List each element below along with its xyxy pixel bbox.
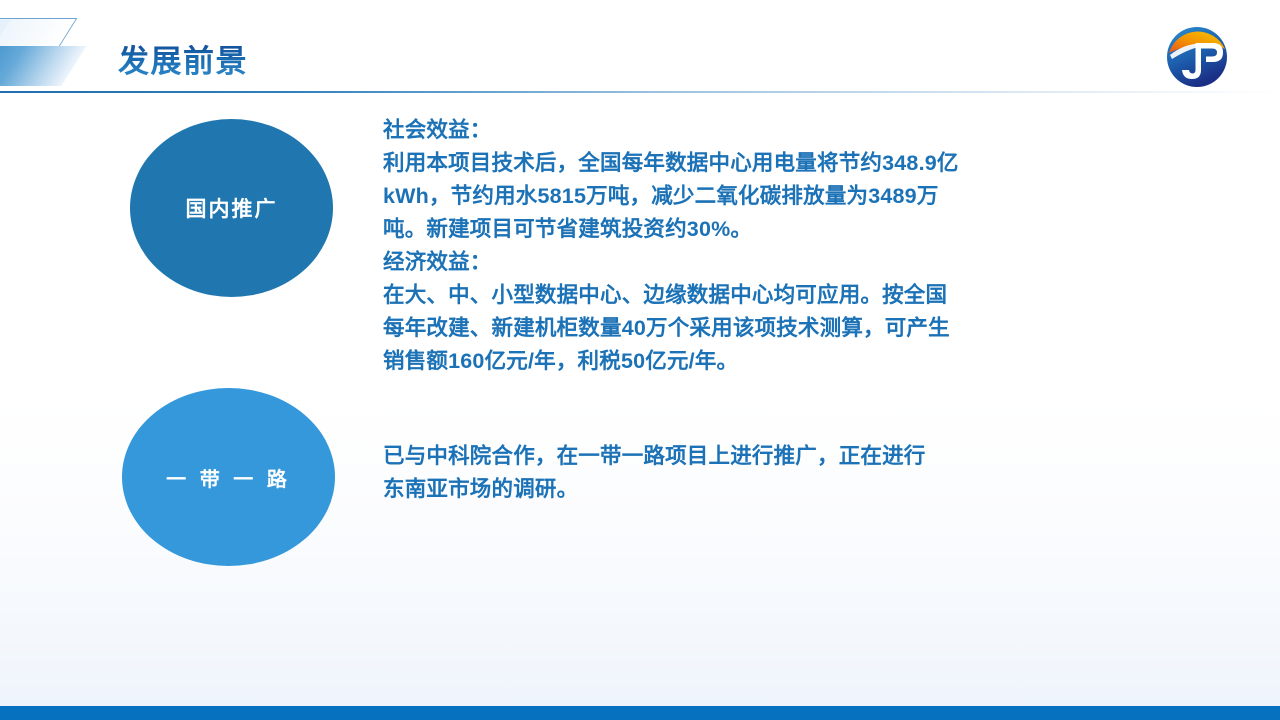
text-line: 社会效益： [383, 114, 1053, 147]
header-divider [0, 91, 1280, 93]
text-line: kWh，节约用水5815万吨，减少二氧化碳排放量为3489万 [383, 180, 1053, 213]
text-line: 已与中科院合作，在一带一路项目上进行推广，正在进行 [383, 440, 1053, 473]
content-block-benefits: 社会效益： 利用本项目技术后，全国每年数据中心用电量将节约348.9亿 kWh，… [383, 114, 1053, 378]
decoration-parallelogram-filled [0, 46, 86, 86]
text-line: 东南亚市场的调研。 [383, 473, 1053, 506]
text-line: 在大、中、小型数据中心、边缘数据中心均可应用。按全国 [383, 279, 1053, 312]
text-line: 利用本项目技术后，全国每年数据中心用电量将节约348.9亿 [383, 147, 1053, 180]
text-line: 销售额160亿元/年，利税50亿元/年。 [383, 345, 1053, 378]
decoration-parallelogram-outline [0, 18, 77, 48]
circle-badge-label: 国内推广 [186, 193, 278, 223]
text-line: 经济效益： [383, 246, 1053, 279]
company-logo-icon [1163, 23, 1231, 91]
content-block-belt-and-road: 已与中科院合作，在一带一路项目上进行推广，正在进行 东南亚市场的调研。 [383, 440, 1053, 506]
text-line: 每年改建、新建机柜数量40万个采用该项技术测算，可产生 [383, 312, 1053, 345]
page-title: 发展前景 [118, 36, 248, 81]
circle-badge-domestic-promotion: 国内推广 [130, 119, 333, 297]
circle-badge-label: 一 带 一 路 [166, 463, 291, 492]
slide-header: 发展前景 [0, 0, 1280, 93]
footer-accent-bar [0, 706, 1280, 720]
text-line: 吨。新建项目可节省建筑投资约30%。 [383, 213, 1053, 246]
circle-badge-belt-and-road: 一 带 一 路 [122, 388, 335, 566]
slide: 发展前景 国内推广 [0, 0, 1280, 720]
